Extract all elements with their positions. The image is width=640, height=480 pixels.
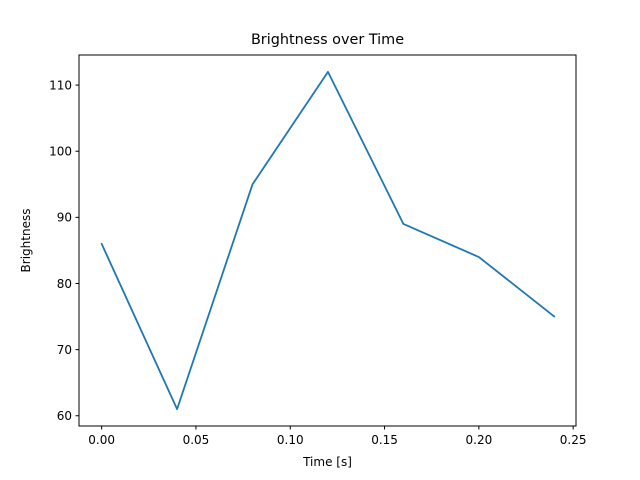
x-tick-label: 0.00 — [88, 433, 115, 447]
x-tick-label: 0.25 — [560, 433, 587, 447]
x-tick-label: 0.05 — [183, 433, 210, 447]
x-tick-label: 0.20 — [466, 433, 493, 447]
y-tick-label: 90 — [57, 211, 72, 225]
y-tick-label: 110 — [49, 78, 72, 92]
y-tick-label: 60 — [57, 409, 72, 423]
x-axis-label: Time [s] — [302, 455, 352, 469]
y-tick-label: 80 — [57, 277, 72, 291]
brightness-line-chart: Brightness over Time 0.000.050.100.150.2… — [0, 0, 640, 480]
y-axis-label: Brightness — [19, 209, 33, 273]
matplotlib-figure: Brightness over Time 0.000.050.100.150.2… — [0, 0, 640, 480]
y-tick-label: 70 — [57, 343, 72, 357]
x-tick-label: 0.15 — [371, 433, 398, 447]
plot-area-background — [79, 55, 576, 426]
x-tick-label: 0.10 — [277, 433, 304, 447]
chart-title: Brightness over Time — [251, 32, 404, 48]
y-tick-label: 100 — [49, 145, 72, 159]
